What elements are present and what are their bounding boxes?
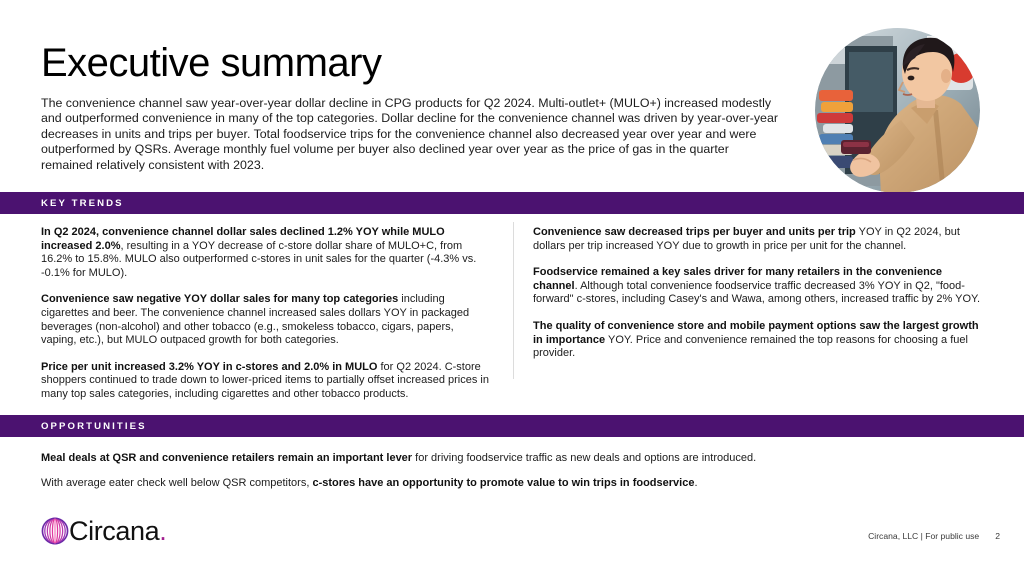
circana-logo: Circana. <box>38 512 166 550</box>
convenience-store-shopper-image <box>815 28 980 193</box>
key-trend-item: Price per unit increased 3.2% YOY in c-s… <box>41 361 491 402</box>
footer-meta: Circana, LLC | For public use 2 <box>868 531 1000 541</box>
circana-wordmark-dot: . <box>159 516 166 546</box>
opportunity-tail: . <box>694 477 697 489</box>
key-trends-right-column: Convenience saw decreased trips per buye… <box>533 226 983 361</box>
key-trends-left-column: In Q2 2024, convenience channel dollar s… <box>41 226 491 402</box>
key-trend-item: Convenience saw negative YOY dollar sale… <box>41 293 491 347</box>
opportunity-item: With average eater check well below QSR … <box>41 477 941 491</box>
circana-wordmark-text: Circana <box>69 516 159 546</box>
key-trends-content: In Q2 2024, convenience channel dollar s… <box>0 226 1024 396</box>
section-band-opportunities-label: OPPORTUNITIES <box>41 421 147 432</box>
slide-canvas: Executive summary The convenience channe… <box>0 0 1024 576</box>
opportunities-content: Meal deals at QSR and convenience retail… <box>41 452 941 490</box>
circana-wordmark: Circana. <box>69 516 166 547</box>
column-divider <box>513 222 514 379</box>
key-trend-body: . Although total convenience foodservice… <box>533 280 980 306</box>
intro-paragraph: The convenience channel saw year-over-ye… <box>41 96 783 173</box>
key-trend-item: In Q2 2024, convenience channel dollar s… <box>41 226 491 280</box>
key-trend-lead: Convenience saw negative YOY dollar sale… <box>41 293 398 305</box>
key-trend-lead: Convenience saw decreased trips per buye… <box>533 226 856 238</box>
footer-copyright: Circana, LLC | For public use <box>868 531 979 541</box>
section-band-opportunities: OPPORTUNITIES <box>0 415 1024 437</box>
opportunity-lead: Meal deals at QSR and convenience retail… <box>41 452 412 464</box>
key-trend-item: The quality of convenience store and mob… <box>533 320 983 361</box>
page-number: 2 <box>995 531 1000 541</box>
section-band-key-trends: KEY TRENDS <box>0 192 1024 214</box>
section-band-key-trends-label: KEY TRENDS <box>41 198 124 209</box>
opportunity-item: Meal deals at QSR and convenience retail… <box>41 452 941 466</box>
opportunity-body: for driving foodservice traffic as new d… <box>412 452 756 464</box>
opportunity-lead: c-stores have an opportunity to promote … <box>309 477 694 489</box>
circana-sphere-icon <box>38 514 72 548</box>
key-trend-lead: Price per unit increased 3.2% YOY in c-s… <box>41 361 377 373</box>
opportunity-body: With average eater check well below QSR … <box>41 477 309 489</box>
key-trend-item: Convenience saw decreased trips per buye… <box>533 226 983 253</box>
key-trend-item: Foodservice remained a key sales driver … <box>533 266 983 307</box>
hero-photo <box>815 28 980 193</box>
page-title: Executive summary <box>41 42 381 84</box>
